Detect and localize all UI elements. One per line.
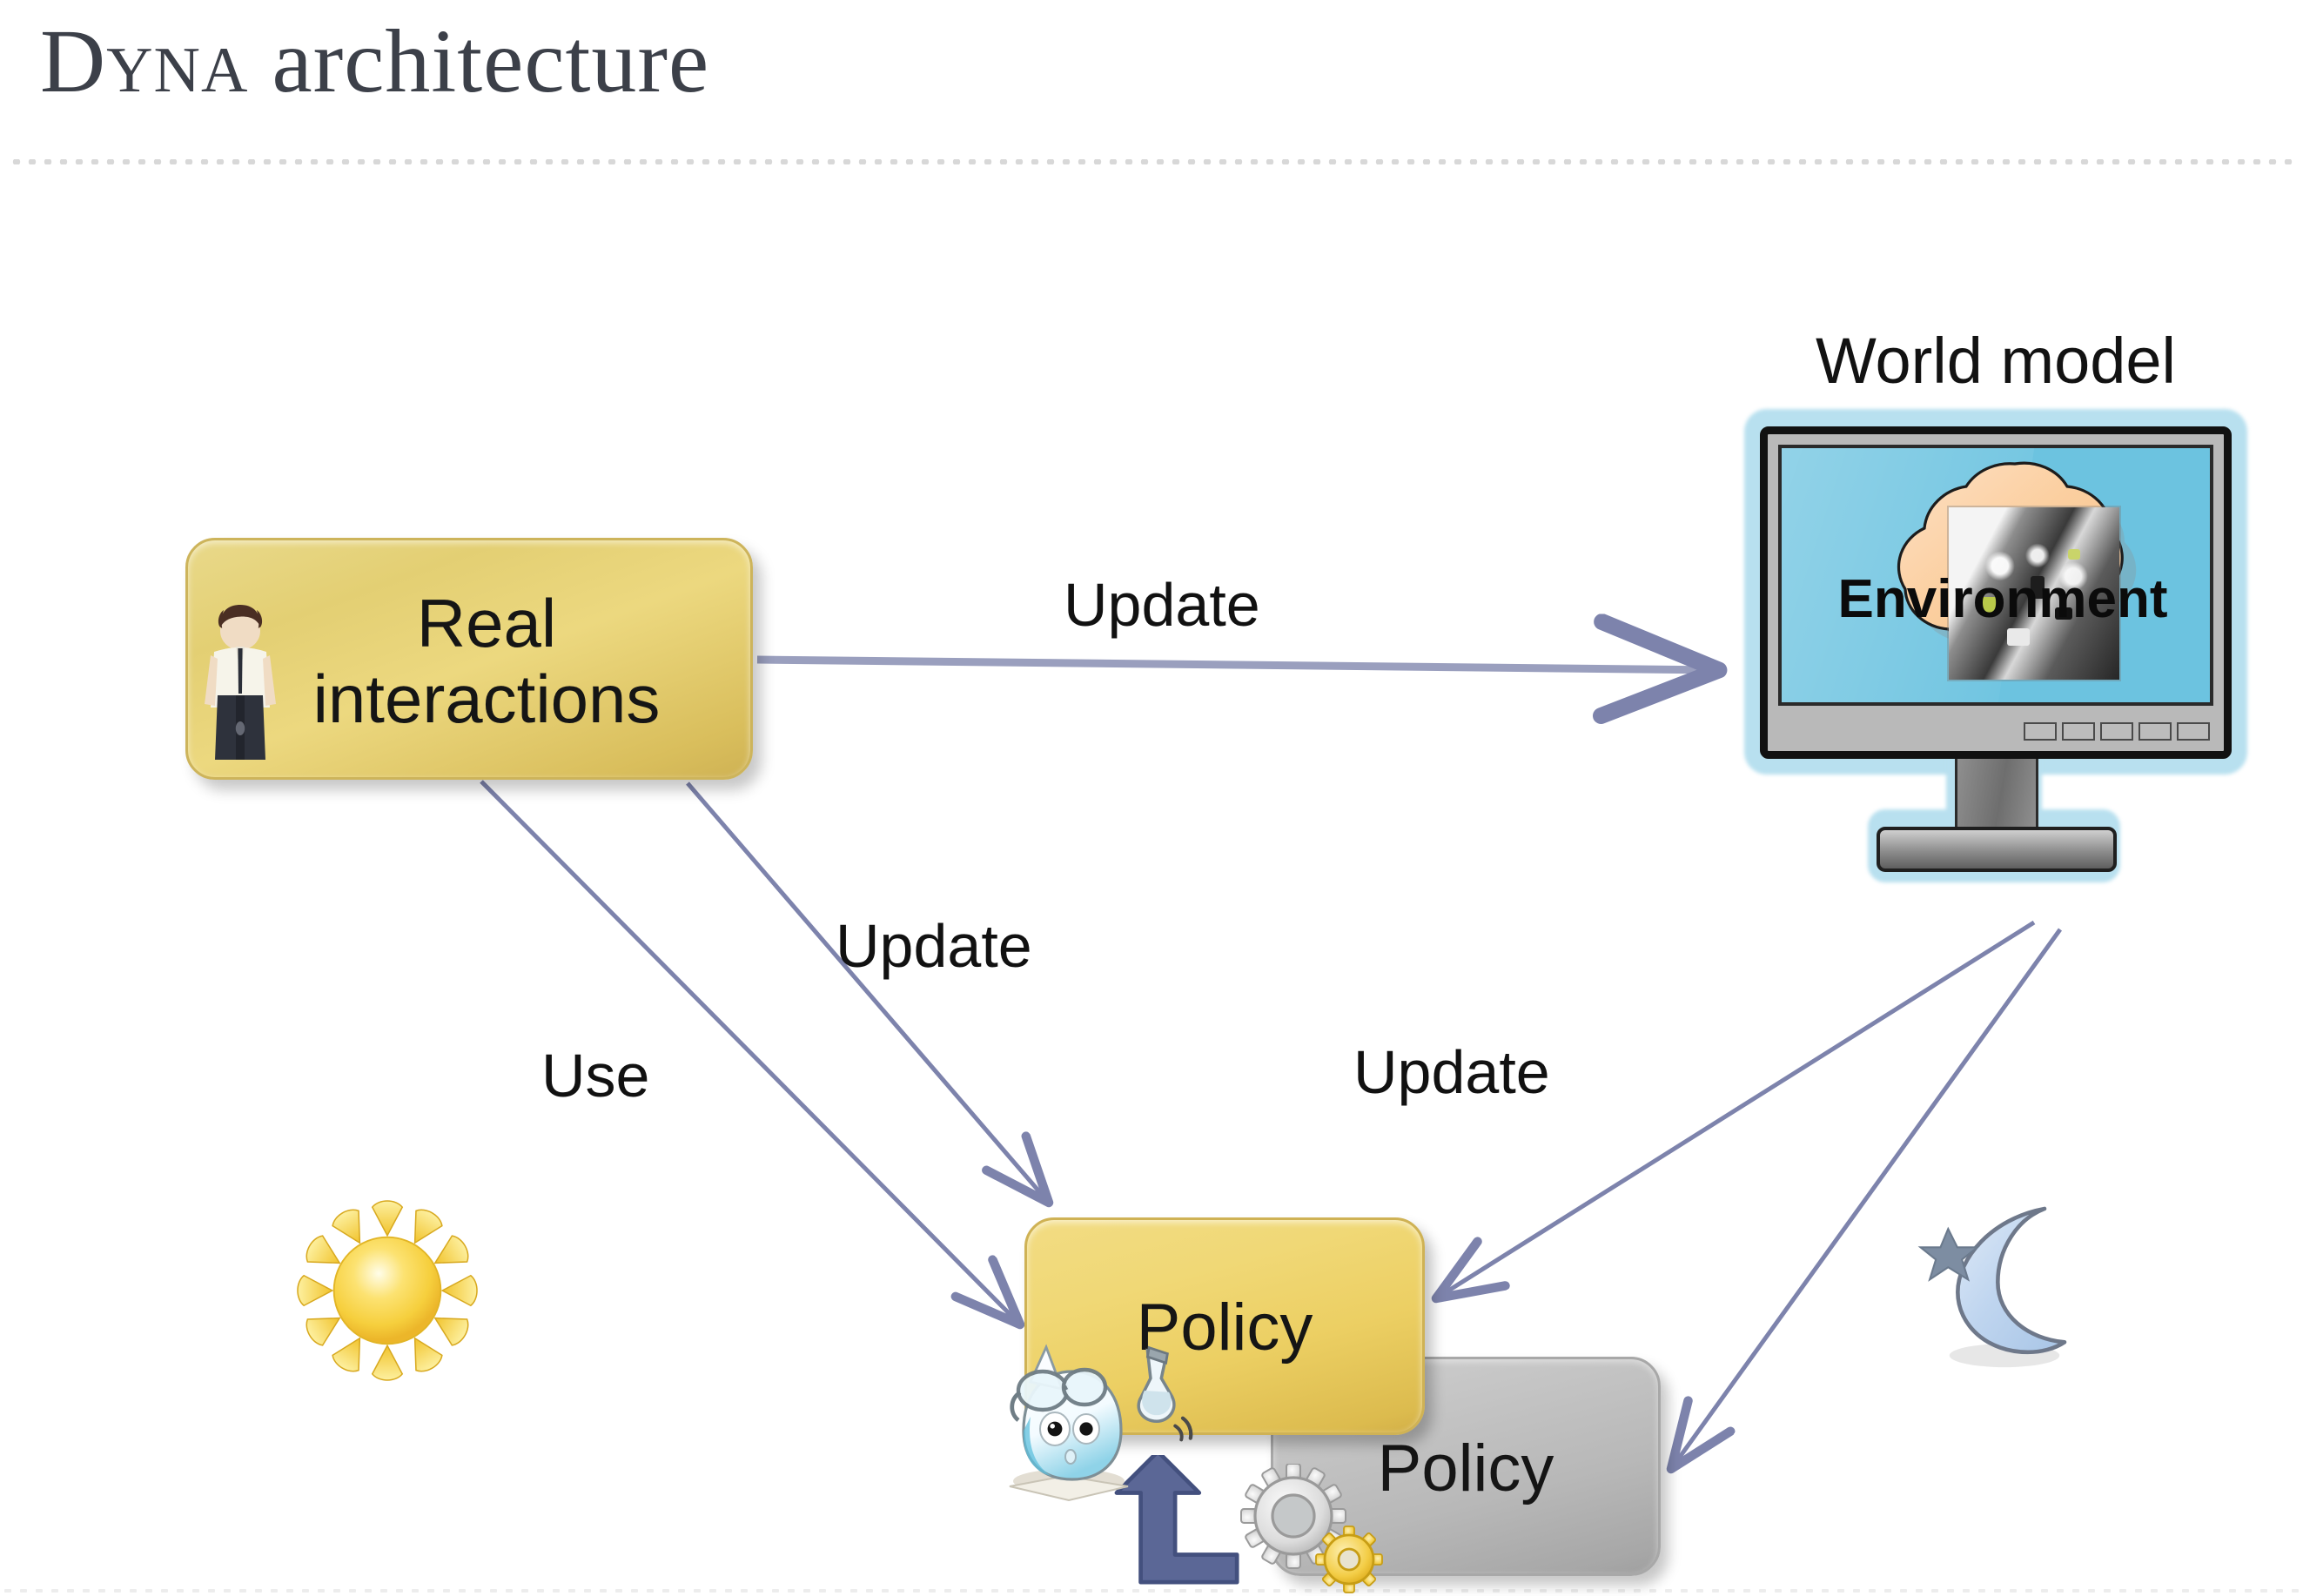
monitor-frame: Environment [1760,426,2232,759]
monitor-screen: Environment [1778,445,2213,706]
edge-label-update-right: Update [1353,1037,1550,1107]
monitor-stand-base [1877,827,2117,872]
node-real-interactions-line1: Real [223,586,750,661]
slide-canvas: DYNA architecture Update Update Use Upda… [0,0,2303,1596]
world-model-caption: World model [1739,324,2253,398]
flask-icon [1111,1345,1203,1449]
edge-real-to-world [757,660,1719,670]
node-world-model[interactable]: World model [1739,325,2253,922]
node-real-interactions-label: Real interactions [188,586,750,738]
edge-label-use: Use [541,1041,649,1110]
monitor-button[interactable] [2100,722,2133,741]
edge-label-update-top: Update [1064,570,1260,640]
thought-cloud-icon: Environment [1820,453,2185,706]
monitor-stand-neck [1955,754,2038,835]
monitor-button[interactable] [2138,722,2172,741]
gears-icon [1239,1464,1393,1596]
monitor-buttons[interactable] [2024,722,2210,741]
node-real-interactions[interactable]: Real interactions [185,538,753,780]
node-real-interactions-line2: interactions [223,661,750,737]
monitor-button[interactable] [2177,722,2210,741]
monitor-button[interactable] [2062,722,2095,741]
sun-icon [287,1190,487,1391]
edge-real-to-policy-update [688,783,1049,1203]
crescent-moon-icon [1904,1189,2105,1389]
monitor-button[interactable] [2024,722,2057,741]
environment-label: Environment [1820,568,2185,630]
edge-label-update-mid: Update [836,911,1032,981]
